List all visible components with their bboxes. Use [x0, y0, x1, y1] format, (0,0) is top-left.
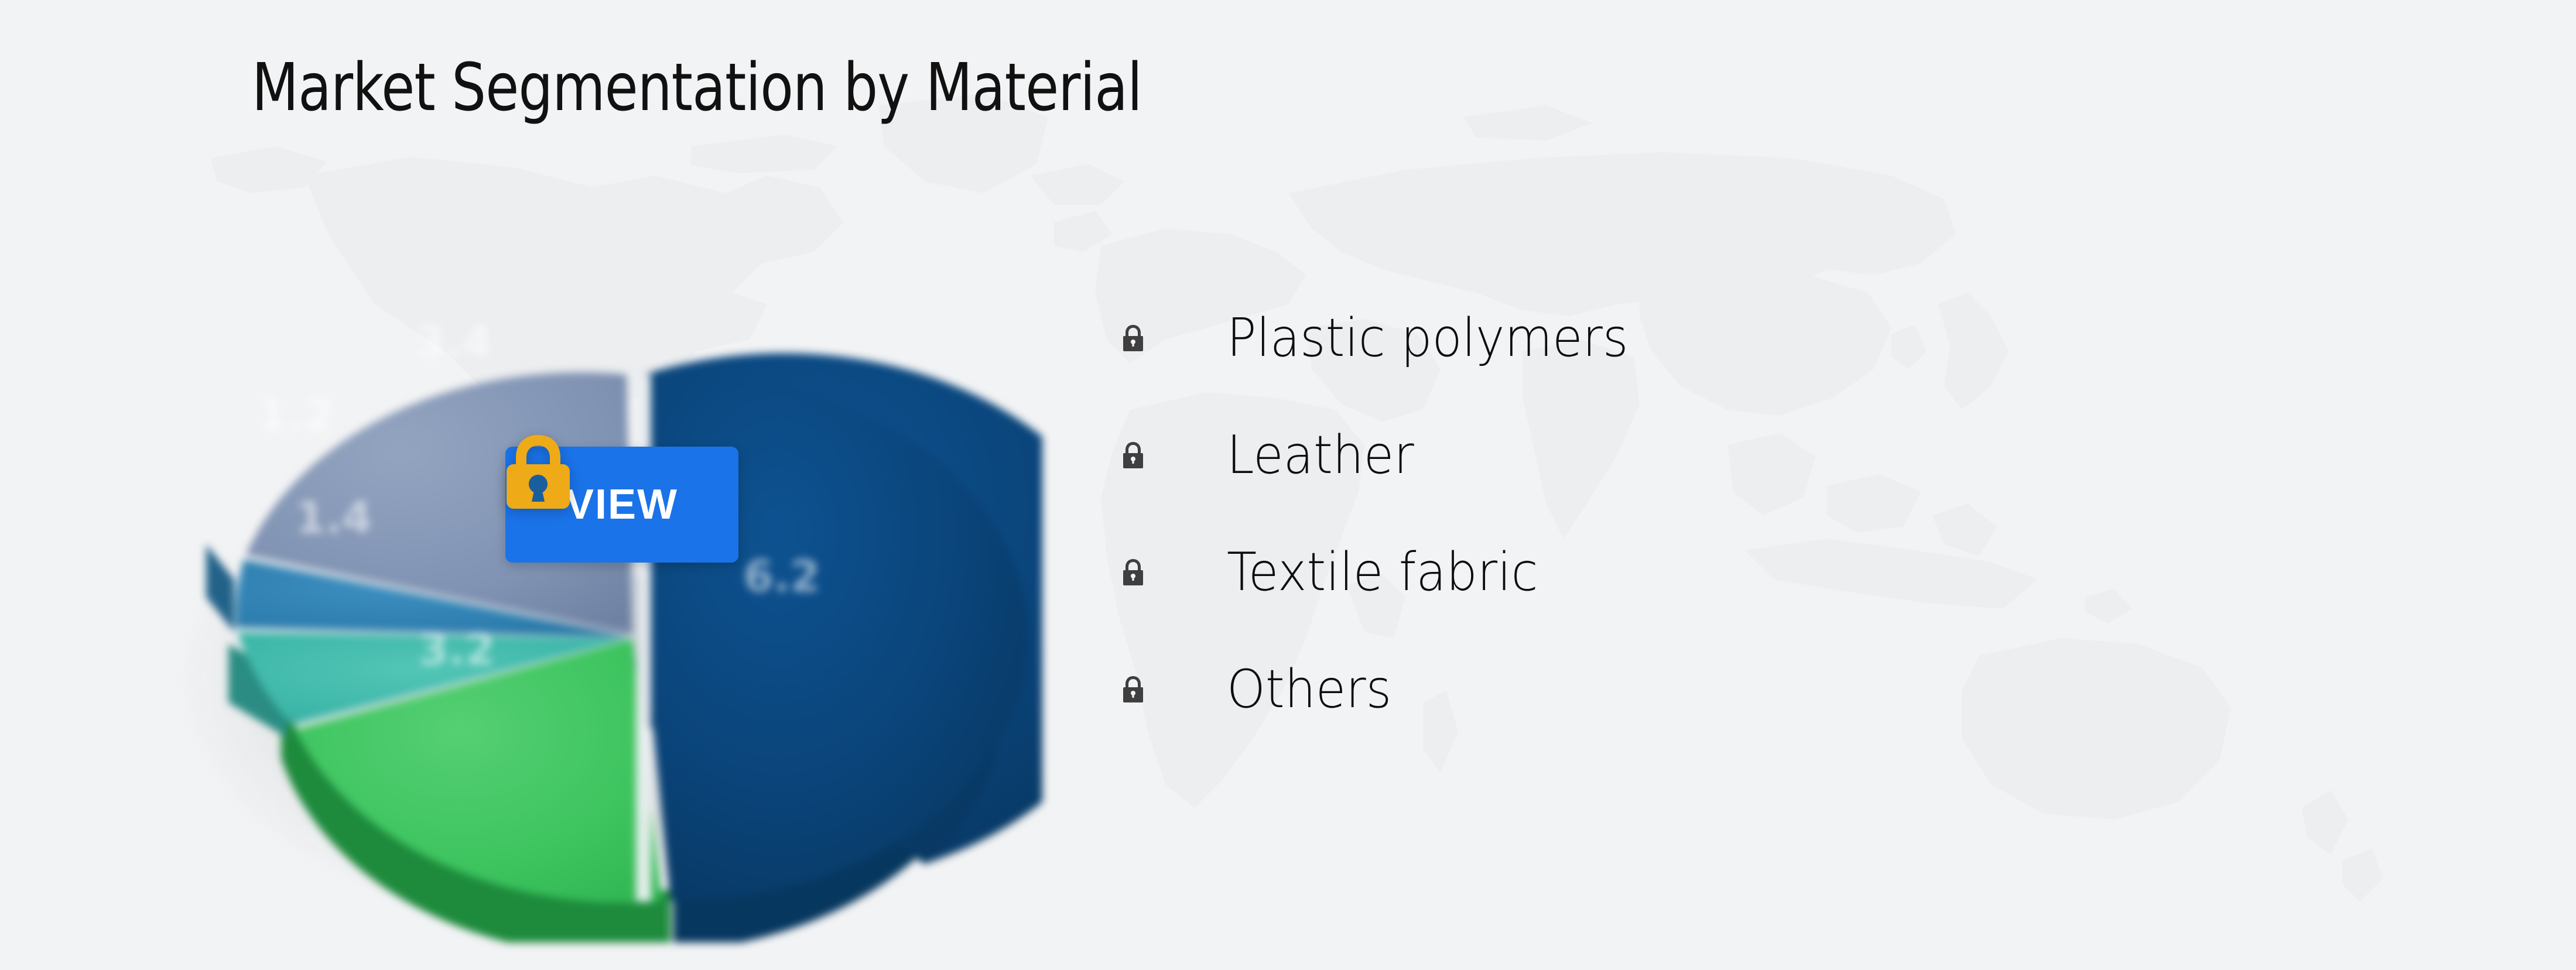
svg-text:1.2: 1.2	[257, 390, 334, 441]
legend: Plastic polymers Leather Textile fabric	[1120, 280, 1940, 748]
padlock-locked-icon	[1120, 558, 1146, 587]
legend-item-leather[interactable]: Leather	[1120, 397, 1940, 514]
legend-item-plastic-polymers[interactable]: Plastic polymers	[1120, 280, 1940, 397]
svg-text:6.2: 6.2	[743, 551, 820, 602]
svg-text:3.2: 3.2	[418, 625, 495, 675]
slide-canvas: Market Segmentation by Material	[0, 0, 2576, 970]
legend-item-label: Leather	[1227, 429, 1414, 482]
svg-text:1.4: 1.4	[295, 493, 372, 543]
padlock-locked-icon	[1120, 324, 1146, 353]
legend-item-label: Others	[1227, 663, 1391, 716]
legend-item-label: Textile fabric	[1227, 546, 1538, 599]
locked-content-overlay: VIEW	[501, 430, 747, 568]
page-title: Market Segmentation by Material	[252, 54, 1142, 123]
padlock-locked-icon	[501, 430, 576, 512]
view-button-label: VIEW	[566, 481, 678, 529]
padlock-locked-icon	[1120, 675, 1146, 704]
legend-item-others[interactable]: Others	[1120, 631, 1940, 748]
svg-text:3.4: 3.4	[415, 317, 492, 368]
padlock-locked-icon	[1120, 441, 1146, 470]
legend-item-label: Plastic polymers	[1227, 312, 1629, 365]
legend-item-textile-fabric[interactable]: Textile fabric	[1120, 514, 1940, 631]
